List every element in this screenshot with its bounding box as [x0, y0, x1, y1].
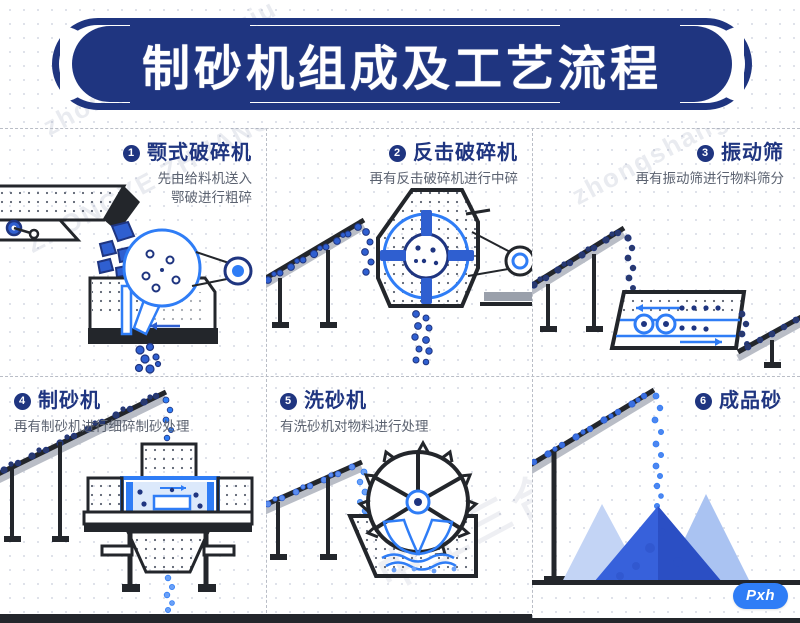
panel-impact-crusher[interactable]: 2 反击破碎机 再有反击破碎机进行中碎 — [266, 128, 532, 376]
panel-title-5: 洗砂机 — [304, 390, 367, 412]
panel-desc-3: 再有振动筛进行物料筛分 — [532, 169, 784, 188]
panel-caption-1: 1 颚式破碎机 先由给料机送入 鄂破进行粗碎 — [0, 142, 252, 207]
panel-title-3: 振动筛 — [721, 142, 784, 164]
panel-number-badge-1: 1 — [123, 145, 140, 162]
header-banner: zhongyu zhangqiu 制砂机组成及工艺流程 — [0, 0, 800, 128]
panel-title-row-5: 5 洗砂机 — [280, 390, 520, 412]
panel-sand-maker[interactable]: 4 制砂机 再有制砂机进行细碎制砂处理 — [0, 376, 266, 623]
panel-vibrating-screen[interactable]: zhongshangye 3 振动筛 再有振动筛进行物料筛分 — [532, 128, 800, 376]
panel-title-6: 成品砂 — [719, 390, 782, 412]
panel-title-2: 反击破碎机 — [413, 142, 518, 164]
panel-caption-5: 5 洗砂机 有洗砂机对物料进行处理 — [280, 390, 520, 436]
page-title: 制砂机组成及工艺流程 — [72, 26, 732, 102]
panel-sand-washer[interactable]: 中工三合机械 5 洗砂机 有洗砂机对物料进行处理 — [266, 376, 532, 623]
panel-title-row-2: 2 反击破碎机 — [266, 142, 518, 164]
panel-title-1: 颚式破碎机 — [147, 142, 252, 164]
panel-jaw-crusher[interactable]: ZHONGYE ZHUANGKU 1 颚式破碎机 先由给料机送入 鄂破进行粗碎 — [0, 128, 266, 376]
panel-caption-3: 3 振动筛 再有振动筛进行物料筛分 — [532, 142, 784, 188]
panel-title-row-4: 4 制砂机 — [14, 390, 254, 412]
panel-caption-2: 2 反击破碎机 再有反击破碎机进行中碎 — [266, 142, 518, 188]
panel-desc-1: 先由给料机送入 鄂破进行粗碎 — [0, 169, 252, 207]
panel-title-row-6: 6 成品砂 — [532, 390, 782, 412]
panel-title-4: 制砂机 — [38, 390, 101, 412]
panel-number-badge-4: 4 — [14, 393, 31, 410]
panel-number-badge-3: 3 — [697, 145, 714, 162]
bottom-baseline — [0, 618, 800, 623]
panel-number-badge-5: 5 — [280, 393, 297, 410]
panel-caption-4: 4 制砂机 再有制砂机进行细碎制砂处理 — [14, 390, 254, 436]
panel-number-badge-6: 6 — [695, 393, 712, 410]
panel-number-badge-2: 2 — [389, 145, 406, 162]
infographic-root: zhongyu zhangqiu 制砂机组成及工艺流程 ZHONGYE ZHUA… — [0, 0, 800, 623]
panel-caption-6: 6 成品砂 — [532, 390, 782, 417]
pxh-badge[interactable]: Pxh — [733, 583, 788, 609]
panel-title-row-3: 3 振动筛 — [532, 142, 784, 164]
process-grid: ZHONGYE ZHUANGKU 1 颚式破碎机 先由给料机送入 鄂破进行粗碎 — [0, 128, 800, 623]
panel-finished-sand[interactable]: 6 成品砂 — [532, 376, 800, 623]
panel-title-row-1: 1 颚式破碎机 — [0, 142, 252, 164]
panel-desc-5: 有洗砂机对物料进行处理 — [280, 417, 520, 436]
panel-desc-2: 再有反击破碎机进行中碎 — [266, 169, 518, 188]
panel-desc-4: 再有制砂机进行细碎制砂处理 — [14, 417, 254, 436]
